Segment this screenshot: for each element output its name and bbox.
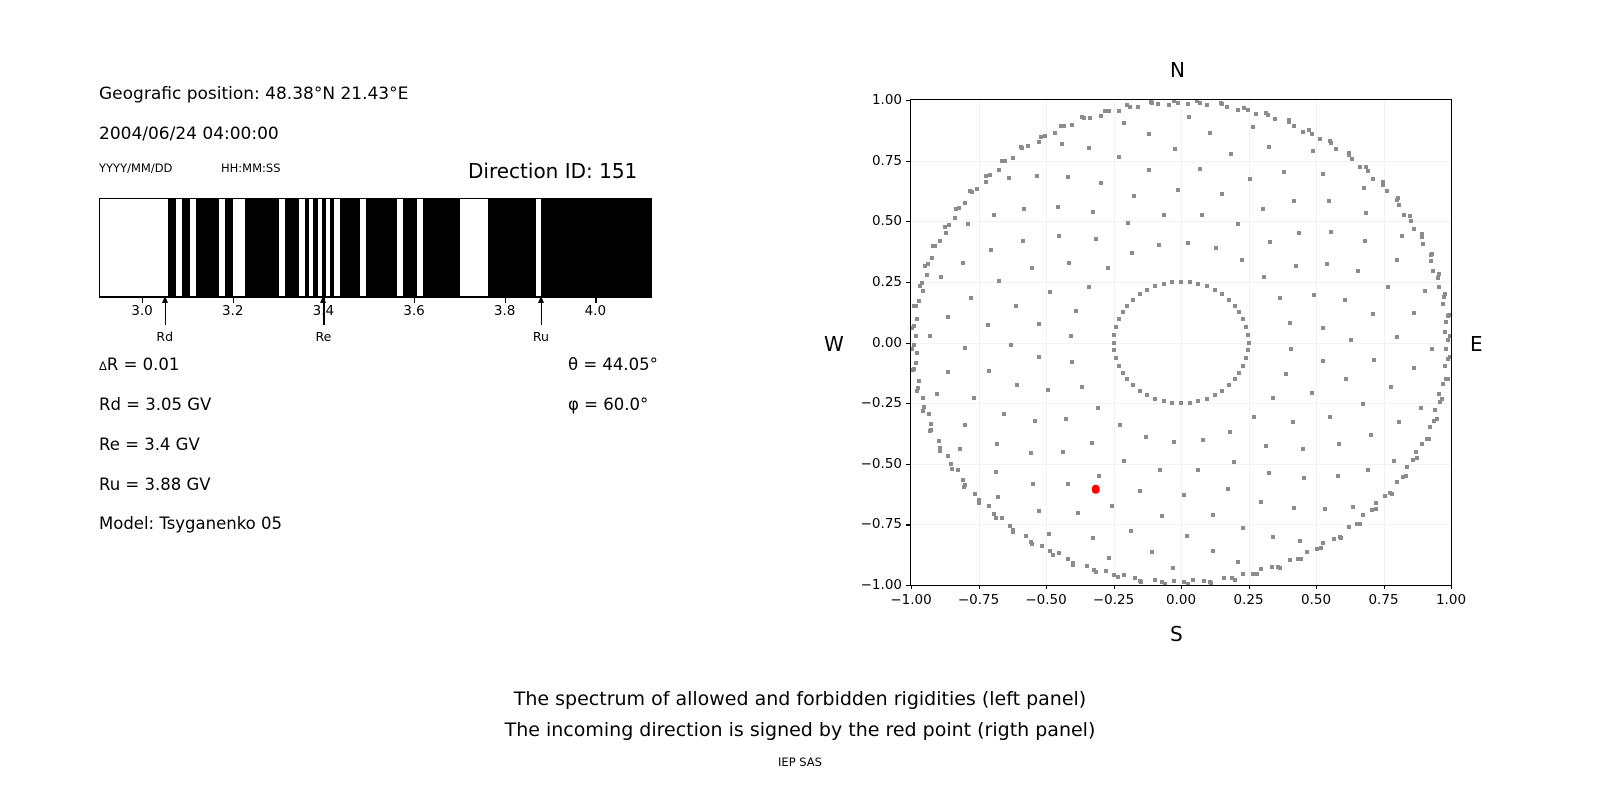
figure-caption: The spectrum of allowed and forbidden ri…	[0, 684, 1600, 746]
scatter-point	[1057, 234, 1061, 238]
plot-x-tick	[1046, 585, 1047, 589]
scatter-point	[994, 470, 998, 474]
scatter-point	[1037, 509, 1041, 513]
scatter-point	[1349, 338, 1353, 342]
scatter-point	[1186, 102, 1190, 106]
polar-scatter-plot	[910, 99, 1452, 586]
delta-symbol: Δ	[99, 359, 107, 373]
scatter-point	[1334, 147, 1338, 151]
param-model: Model: Tsyganenko 05	[99, 514, 282, 533]
scatter-point	[1030, 266, 1034, 270]
forbidden-band	[182, 199, 190, 296]
scatter-point	[1091, 536, 1095, 540]
scatter-point	[1292, 124, 1296, 128]
scatter-point	[1305, 550, 1309, 554]
scatter-point	[1232, 460, 1236, 464]
scatter-point	[1318, 137, 1322, 141]
scatter-point	[1261, 207, 1265, 211]
forbidden-band	[330, 199, 334, 296]
scatter-point	[1329, 141, 1333, 145]
scatter-point	[1240, 258, 1244, 262]
time-format-hint: HH:MM:SS	[221, 161, 281, 175]
scatter-point	[1021, 239, 1025, 243]
scatter-point	[987, 504, 991, 508]
scatter-point	[1388, 491, 1392, 495]
scatter-point	[1040, 544, 1044, 548]
scatter-point	[992, 213, 996, 217]
scatter-point	[1117, 364, 1121, 368]
scatter-point	[1048, 290, 1052, 294]
scatter-point	[1162, 282, 1166, 286]
forbidden-band	[423, 199, 460, 296]
scatter-point	[1337, 442, 1341, 446]
plot-x-ticklabel: −0.50	[1025, 592, 1066, 608]
scatter-point	[937, 439, 941, 443]
scatter-point	[914, 304, 918, 308]
plot-x-ticklabel: 0.50	[1301, 592, 1331, 608]
scatter-point	[1171, 566, 1175, 570]
scatter-point	[1356, 269, 1360, 273]
scatter-point	[1447, 313, 1451, 317]
scatter-point	[1182, 580, 1186, 584]
scatter-point	[1064, 417, 1068, 421]
scatter-point	[970, 190, 974, 194]
scatter-point	[1157, 243, 1161, 247]
forbidden-band	[488, 199, 535, 296]
scatter-point	[1227, 298, 1231, 302]
scatter-point	[1131, 383, 1135, 387]
gridline-horizontal	[911, 524, 1451, 525]
scatter-point	[1255, 572, 1259, 576]
observation-datetime: 2004/06/24 04:00:00	[99, 124, 279, 144]
scatter-point	[1432, 419, 1436, 423]
scatter-point	[1412, 366, 1416, 370]
scatter-point	[1087, 285, 1091, 289]
scatter-point	[1144, 435, 1148, 439]
scatter-point	[1153, 578, 1157, 582]
scatter-point	[928, 334, 932, 338]
scatter-point	[1094, 237, 1098, 241]
scatter-point	[946, 315, 950, 319]
scatter-point	[1361, 402, 1365, 406]
plot-x-tick	[911, 585, 912, 589]
scatter-point	[1191, 578, 1195, 582]
scatter-point	[986, 323, 990, 327]
scatter-point	[1273, 117, 1277, 121]
scatter-point	[1227, 383, 1231, 387]
marker-arrow-ru	[541, 296, 542, 325]
scatter-point	[992, 512, 996, 516]
scatter-point	[1172, 100, 1176, 103]
plot-y-tick	[906, 282, 910, 283]
scatter-point	[1099, 181, 1103, 185]
scatter-point	[949, 462, 953, 466]
scatter-point	[1186, 582, 1190, 585]
scatter-point	[1264, 444, 1268, 448]
marker-label-ru: Ru	[533, 329, 549, 344]
scatter-point	[1247, 341, 1251, 345]
scatter-point	[1267, 471, 1271, 475]
plot-y-ticklabel: 0.50	[852, 213, 902, 229]
marker-label-re: Re	[315, 329, 331, 344]
scatter-point	[1371, 312, 1375, 316]
plot-x-ticklabel: 0.25	[1233, 592, 1263, 608]
scatter-point	[917, 299, 921, 303]
scatter-point	[1298, 539, 1302, 543]
scatter-point	[1128, 105, 1132, 109]
scatter-point	[1220, 192, 1224, 196]
scatter-point	[1328, 415, 1332, 419]
scatter-point	[1230, 576, 1234, 580]
spectrum-axis-ticklabel: 3.8	[494, 303, 515, 319]
spectrum-axis-ticklabel: 4.0	[585, 303, 606, 319]
scatter-point	[1292, 199, 1296, 203]
scatter-point	[1201, 438, 1205, 442]
scatter-point	[1374, 507, 1378, 511]
scatter-point	[1246, 108, 1250, 112]
scatter-point	[1228, 430, 1232, 434]
scatter-point	[1205, 284, 1209, 288]
scatter-point	[929, 422, 933, 426]
scatter-point	[1332, 537, 1336, 541]
scatter-point	[1061, 450, 1065, 454]
plot-y-ticklabel: 0.00	[852, 335, 902, 351]
institution-footer: IEP SAS	[0, 755, 1600, 769]
scatter-point	[912, 324, 916, 328]
scatter-point	[1170, 280, 1174, 284]
plot-data-area	[911, 100, 1451, 585]
scatter-point	[1436, 276, 1440, 280]
scatter-point	[1196, 282, 1200, 286]
scatter-point	[1402, 213, 1406, 217]
scatter-point	[1226, 487, 1230, 491]
scatter-point	[1037, 140, 1041, 144]
scatter-point	[1395, 480, 1399, 484]
scatter-point	[1236, 222, 1240, 226]
scatter-point	[938, 239, 942, 243]
scatter-point	[915, 351, 919, 355]
scatter-point	[1147, 132, 1151, 136]
spectrum-axis-ticklabel: 3.6	[403, 303, 424, 319]
scatter-point	[929, 428, 933, 432]
scatter-point	[1160, 580, 1164, 584]
plot-y-ticklabel: −0.75	[852, 516, 902, 532]
scatter-point	[1284, 372, 1288, 376]
scatter-point	[1048, 549, 1052, 553]
plot-y-tick	[906, 221, 910, 222]
scatter-point	[1116, 575, 1120, 579]
scatter-point	[1288, 321, 1292, 325]
gridline-horizontal	[911, 221, 1451, 222]
scatter-point	[1389, 385, 1393, 389]
scatter-point	[1091, 210, 1095, 214]
scatter-point	[1241, 526, 1245, 530]
scatter-point	[1037, 355, 1041, 359]
param-ru: Ru = 3.88 GV	[99, 475, 211, 494]
scatter-point	[1374, 501, 1378, 505]
spectrum-axis-ticklabel: 3.0	[131, 303, 152, 319]
direction-id-label: Direction ID: 151	[468, 159, 637, 183]
scatter-point	[1437, 285, 1441, 289]
scatter-point	[1429, 253, 1433, 257]
scatter-point	[1270, 565, 1274, 569]
scatter-point	[1205, 397, 1209, 401]
scatter-point	[1319, 546, 1323, 550]
scatter-point	[1211, 513, 1215, 517]
rigidity-spectrum-bar	[99, 198, 652, 297]
scatter-point	[1208, 131, 1212, 135]
scatter-point	[1122, 573, 1126, 577]
scatter-point	[1043, 134, 1047, 138]
scatter-point	[1251, 125, 1255, 129]
scatter-point	[1241, 572, 1245, 576]
scatter-point	[1121, 371, 1125, 375]
scatter-point	[1211, 549, 1215, 553]
scatter-point	[1425, 437, 1429, 441]
scatter-point	[1321, 541, 1325, 545]
scatter-point	[927, 412, 931, 416]
scatter-point	[1296, 557, 1300, 561]
scatter-point	[969, 296, 973, 300]
scatter-point	[1046, 388, 1050, 392]
scatter-point	[1117, 317, 1121, 321]
scatter-point	[1336, 474, 1340, 478]
scatter-point	[1372, 358, 1376, 362]
scatter-point	[925, 273, 929, 277]
scatter-point	[950, 467, 954, 471]
scatter-point	[1112, 348, 1116, 352]
scatter-point	[1301, 447, 1305, 451]
scatter-point	[1433, 408, 1437, 412]
forbidden-band-container	[100, 199, 651, 296]
scatter-point	[1443, 292, 1447, 296]
scatter-point	[1392, 459, 1396, 463]
compass-west-label: W	[824, 332, 844, 356]
scatter-point	[1361, 513, 1365, 517]
scatter-point	[944, 231, 948, 235]
scatter-point	[1287, 120, 1291, 124]
scatter-point	[1057, 551, 1061, 555]
rigidity-spectrum-panel: Geografic position: 48.38°N 21.43°E 2004…	[0, 0, 800, 660]
scatter-point	[1056, 205, 1060, 209]
scatter-point	[1312, 293, 1316, 297]
scatter-point	[995, 442, 999, 446]
scatter-point	[1160, 514, 1164, 518]
scatter-point	[930, 256, 934, 260]
asymptotic-direction-panel: N S W E −1.00−0.75−0.50−0.250.000.250.50…	[800, 0, 1600, 660]
marker-arrow-re	[323, 296, 324, 325]
scatter-point	[1327, 199, 1331, 203]
scatter-point	[1213, 288, 1217, 292]
scatter-point	[1031, 482, 1035, 486]
date-format-hint: YYYY/MM/DD	[99, 161, 172, 175]
scatter-point	[1236, 108, 1240, 112]
forbidden-band	[245, 199, 279, 296]
plot-y-ticklabel: −0.25	[852, 395, 902, 411]
scatter-point	[1024, 534, 1028, 538]
scatter-point	[1033, 419, 1037, 423]
param-delta-r-value: R = 0.01	[107, 355, 180, 374]
scatter-point	[1241, 364, 1245, 368]
scatter-point	[1415, 456, 1419, 460]
scatter-point	[966, 222, 970, 226]
param-theta: θ = 44.05°	[568, 355, 658, 374]
scatter-point	[1130, 251, 1134, 255]
forbidden-band	[541, 199, 652, 296]
scatter-point	[1246, 333, 1250, 337]
compass-north-label: N	[1170, 58, 1185, 82]
scatter-point	[1236, 560, 1240, 564]
scatter-point	[1437, 392, 1441, 396]
scatter-point	[1029, 540, 1033, 544]
scatter-point	[1325, 262, 1329, 266]
scatter-point	[1225, 105, 1229, 109]
scatter-point	[1172, 440, 1176, 444]
scatter-point	[1363, 239, 1367, 243]
scatter-point	[1370, 508, 1374, 512]
scatter-point	[939, 275, 943, 279]
scatter-point	[1366, 468, 1370, 472]
scatter-point	[1097, 474, 1101, 478]
compass-south-label: S	[1170, 622, 1183, 646]
scatter-point	[1412, 227, 1416, 231]
scatter-point	[1315, 547, 1319, 551]
scatter-point	[1099, 114, 1103, 118]
scatter-point	[1060, 142, 1064, 146]
scatter-point	[1153, 284, 1157, 288]
scatter-point	[1085, 564, 1089, 568]
scatter-point	[1400, 234, 1404, 238]
scatter-point	[1188, 280, 1192, 284]
plot-x-tick	[1114, 585, 1115, 589]
scatter-point	[1187, 115, 1191, 119]
gridline-horizontal	[911, 161, 1451, 162]
scatter-point	[1220, 389, 1224, 393]
scatter-point	[1170, 401, 1174, 405]
scatter-point	[1278, 296, 1282, 300]
scatter-point	[1014, 304, 1018, 308]
marker-arrow-rd	[165, 296, 166, 325]
plot-x-tick	[1249, 585, 1250, 589]
forbidden-band	[305, 199, 309, 296]
scatter-point	[935, 392, 939, 396]
scatter-point	[1444, 320, 1448, 324]
scatter-point	[1412, 311, 1416, 315]
scatter-point	[1015, 383, 1019, 387]
scatter-point	[1401, 475, 1405, 479]
scatter-point	[963, 201, 967, 205]
geographic-position: Geografic position: 48.38°N 21.43°E	[99, 84, 408, 104]
scatter-point	[1090, 441, 1094, 445]
scatter-point	[1414, 450, 1418, 454]
scatter-point	[1395, 335, 1399, 339]
scatter-point	[1347, 153, 1351, 157]
scatter-point	[1132, 194, 1136, 198]
scatter-point	[1009, 343, 1013, 347]
scatter-point	[1202, 579, 1206, 583]
scatter-point	[1362, 186, 1366, 190]
scatter-point	[1200, 213, 1204, 217]
scatter-point	[1220, 292, 1224, 296]
caption-line-1: The spectrum of allowed and forbidden ri…	[0, 684, 1600, 715]
scatter-point	[1011, 528, 1015, 532]
scatter-point	[1112, 573, 1116, 577]
plot-y-ticklabel: −0.50	[852, 456, 902, 472]
scatter-point	[1431, 269, 1435, 273]
scatter-point	[1118, 423, 1122, 427]
scatter-point	[1179, 280, 1183, 284]
scatter-point	[1066, 175, 1070, 179]
scatter-point	[1428, 425, 1432, 429]
scatter-point	[1088, 116, 1092, 120]
forbidden-band	[196, 199, 219, 296]
scatter-point	[994, 516, 998, 520]
scatter-point	[1125, 377, 1129, 381]
scatter-point	[1338, 535, 1342, 539]
scatter-point	[1182, 493, 1186, 497]
scatter-point	[1107, 556, 1111, 560]
plot-y-tick	[906, 161, 910, 162]
param-delta-r: ΔR = 0.01	[99, 355, 179, 374]
scatter-point	[957, 206, 961, 210]
scatter-point	[1106, 266, 1110, 270]
scatter-point	[920, 281, 924, 285]
scatter-point	[1271, 535, 1275, 539]
scatter-point	[1355, 522, 1359, 526]
scatter-point	[921, 396, 925, 400]
plot-y-ticklabel: 0.25	[852, 274, 902, 290]
scatter-point	[963, 423, 967, 427]
scatter-point	[922, 405, 926, 409]
scatter-point	[1233, 377, 1237, 381]
scatter-point	[1162, 213, 1166, 217]
scatter-point	[946, 370, 950, 374]
scatter-point	[1150, 101, 1154, 105]
plot-x-tick	[1181, 585, 1182, 589]
param-re: Re = 3.4 GV	[99, 435, 200, 454]
scatter-point	[1321, 326, 1325, 330]
spectrum-axis-ticklabel: 3.2	[222, 303, 243, 319]
scatter-point	[958, 447, 962, 451]
scatter-point	[1254, 112, 1258, 116]
scatter-point	[1441, 382, 1445, 386]
scatter-point	[1002, 412, 1006, 416]
forbidden-band	[225, 199, 233, 296]
scatter-point	[1383, 494, 1387, 498]
scatter-point	[1147, 168, 1151, 172]
scatter-point	[1444, 377, 1448, 381]
scatter-point	[1251, 572, 1255, 576]
scatter-point	[963, 483, 967, 487]
scatter-point	[989, 248, 993, 252]
plot-x-ticklabel: 1.00	[1436, 592, 1466, 608]
scatter-point	[1071, 561, 1075, 565]
scatter-point	[973, 492, 977, 496]
plot-x-ticklabel: 0.75	[1368, 592, 1398, 608]
plot-y-tick	[906, 524, 910, 525]
scatter-point	[1430, 347, 1434, 351]
scatter-point	[1237, 310, 1241, 314]
scatter-point	[961, 261, 965, 265]
gridline-horizontal	[911, 464, 1451, 465]
scatter-point	[1053, 131, 1057, 135]
scatter-point	[1125, 304, 1129, 308]
scatter-point	[921, 409, 925, 413]
scatter-point	[1198, 101, 1202, 105]
scatter-point	[1103, 109, 1107, 113]
scatter-point	[1421, 242, 1425, 246]
scatter-point	[1423, 289, 1427, 293]
